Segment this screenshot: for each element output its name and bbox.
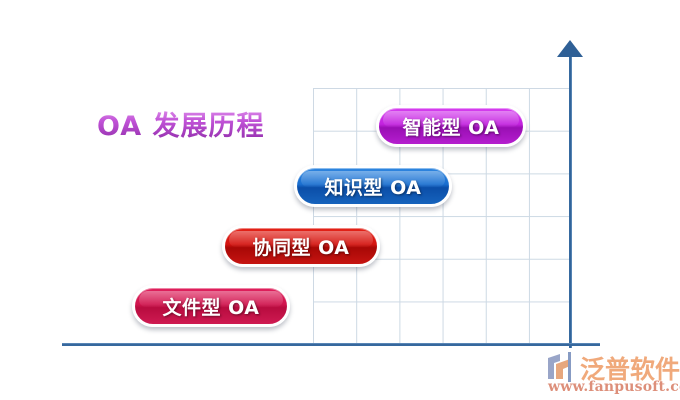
step-label: 知识型 OA	[325, 173, 422, 200]
step-label: 文件型 OA	[163, 293, 260, 320]
step-box-zhinengxing-oa[interactable]: 智能型 OA	[376, 105, 526, 147]
step-box-xietongxing-oa[interactable]: 协同型 OA	[222, 225, 380, 267]
watermark-url: www.fanpusoft.com	[548, 379, 680, 395]
step-box-zhishixing-oa[interactable]: 知识型 OA	[294, 165, 452, 207]
vertical-axis	[569, 52, 572, 348]
step-label: 智能型 OA	[403, 113, 500, 140]
step-box-wenjianxing-oa[interactable]: 文件型 OA	[132, 285, 290, 327]
fanpu-logo-icon	[546, 352, 580, 382]
arrow-up-icon	[557, 40, 583, 57]
step-label: 协同型 OA	[253, 233, 350, 260]
watermark-brand: 泛普软件	[580, 350, 680, 386]
horizontal-axis	[62, 343, 600, 346]
page-title: OA 发展历程	[97, 104, 265, 143]
oa-evolution-chart: OA 发展历程 文件型 OA 协同型 OA 知识型 OA 智能型 OA 泛普软件…	[0, 0, 680, 400]
watermark: 泛普软件 www.fanpusoft.com	[546, 350, 680, 398]
